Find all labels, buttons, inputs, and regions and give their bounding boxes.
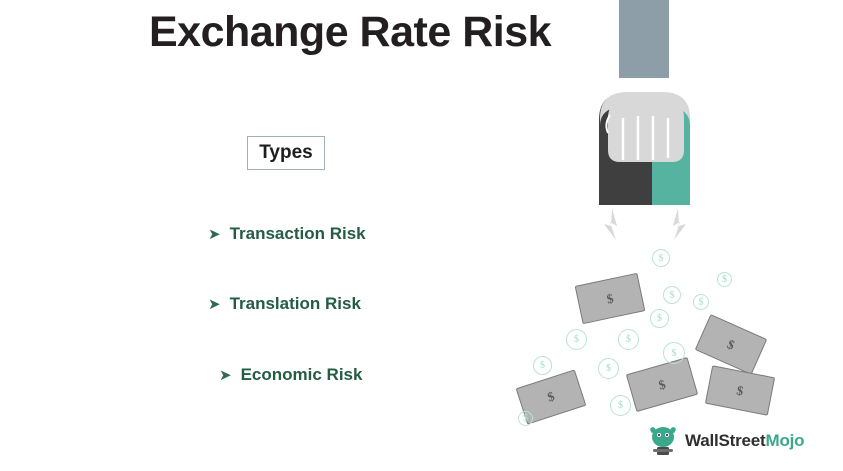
coin: $ (533, 356, 552, 375)
coin: $ (663, 342, 685, 364)
wordmark-part1: WallStreet (685, 431, 766, 450)
wallstreetmojo-bull-logo-icon (648, 424, 678, 458)
types-label: Types (259, 142, 313, 164)
coin: $ (518, 411, 533, 426)
coin: $ (693, 294, 709, 310)
arrow-bullet-icon: ➤ (208, 227, 221, 242)
bullet-label: Economic Risk (241, 365, 363, 385)
wallstreetmojo-logo[interactable]: WallStreetMojo (648, 424, 804, 458)
types-label-box: Types (247, 136, 325, 170)
coin: $ (598, 358, 619, 379)
coin: $ (650, 309, 669, 328)
bullet-label: Transaction Risk (230, 224, 366, 244)
arrow-bullet-icon: ➤ (219, 368, 232, 383)
coin: $ (610, 395, 631, 416)
money-drop-illustration: $ $ $ $ $ $ $ $ $ $ $ $ $ $ $ $ $ (500, 0, 843, 471)
coin: $ (717, 272, 732, 287)
coin: $ (618, 329, 639, 350)
bullet-item-economic-risk: ➤ Economic Risk (219, 365, 362, 385)
wordmark-part2: Mojo (766, 431, 805, 450)
bullet-label: Translation Risk (230, 294, 361, 314)
coin: $ (566, 329, 587, 350)
wallstreetmojo-wordmark: WallStreetMojo (685, 431, 804, 451)
arrow-bullet-icon: ➤ (208, 297, 221, 312)
bullet-item-transaction-risk: ➤ Transaction Risk (208, 224, 366, 244)
coin: $ (652, 249, 670, 267)
slide-canvas: Exchange Rate Risk Types ➤ Transaction R… (0, 0, 843, 471)
bullet-item-translation-risk: ➤ Translation Risk (208, 294, 361, 314)
coin: $ (663, 286, 681, 304)
